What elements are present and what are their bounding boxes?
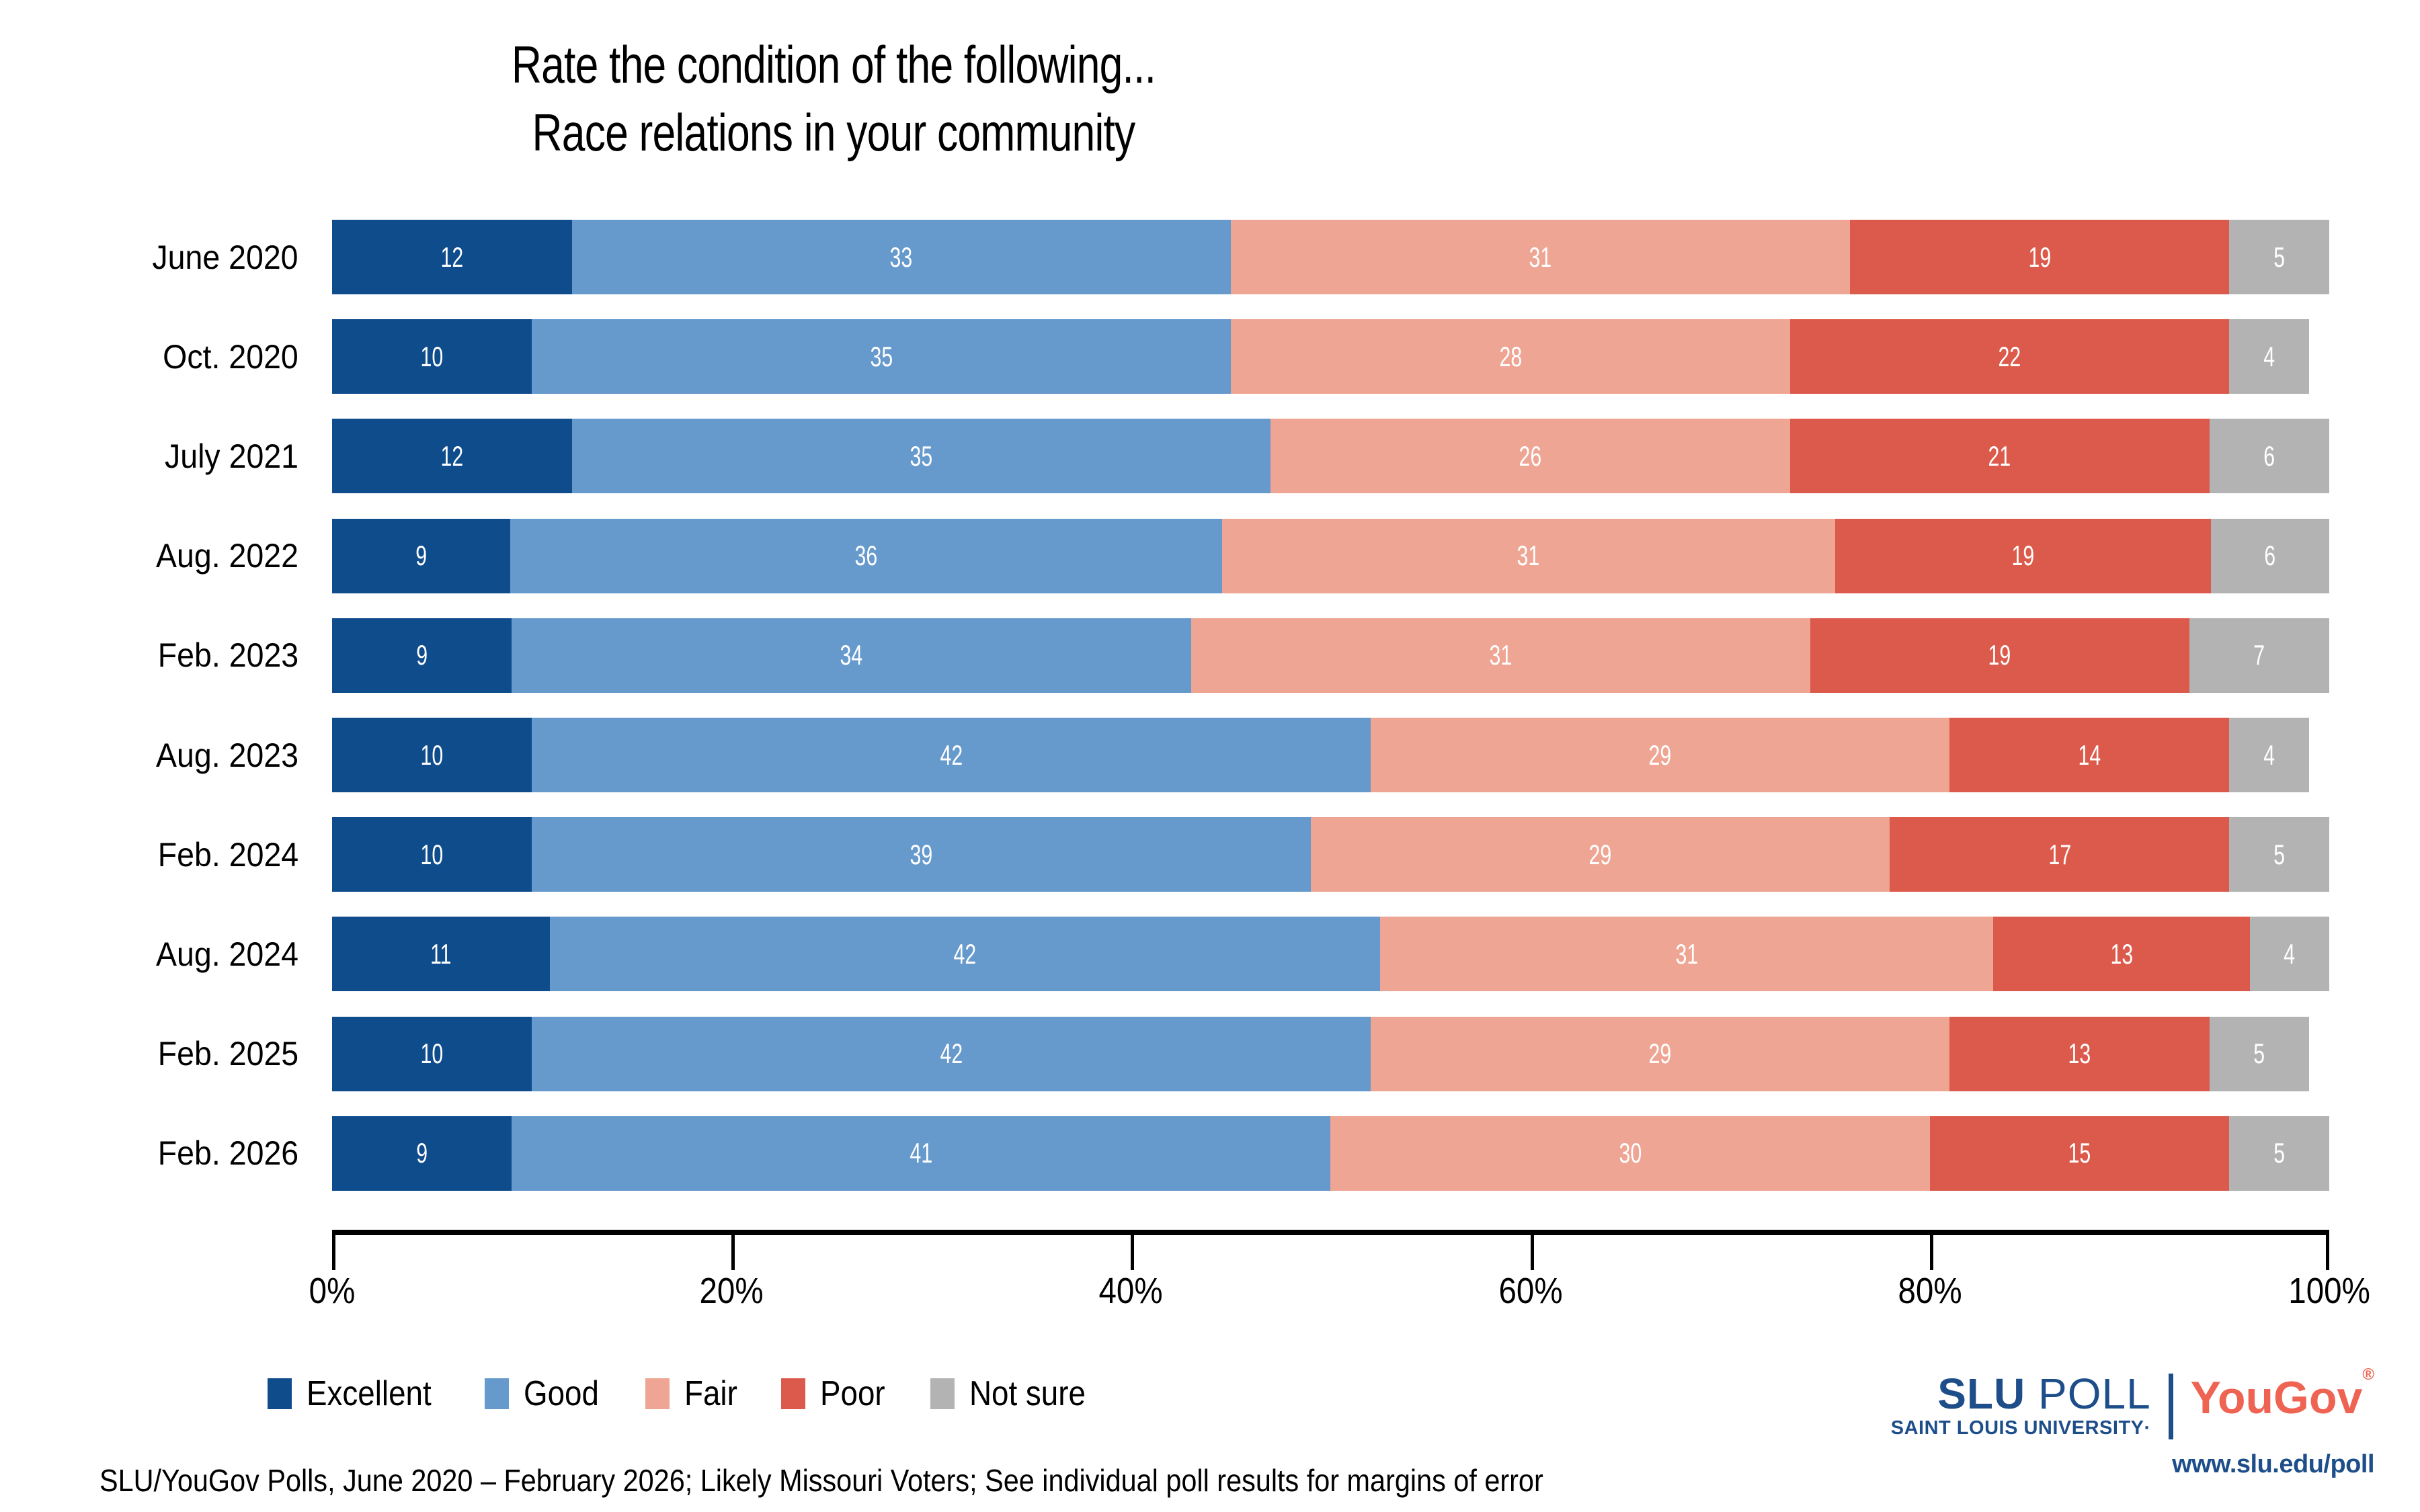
legend-item-poor[interactable]: Poor bbox=[781, 1374, 894, 1414]
y-axis-label-6: Feb. 2024 bbox=[0, 817, 298, 892]
bar-segment-good[interactable]: 33 bbox=[572, 220, 1231, 294]
bar-segment-good[interactable]: 42 bbox=[532, 1017, 1371, 1091]
bar-segment-good[interactable]: 42 bbox=[550, 917, 1380, 991]
bar-row: 114231134 bbox=[332, 917, 2329, 991]
bar-value-label: 33 bbox=[890, 243, 913, 271]
bar-segment-not-sure[interactable]: 5 bbox=[2229, 817, 2329, 892]
bar-segment-poor[interactable]: 19 bbox=[1850, 220, 2229, 294]
bar-value-label: 6 bbox=[2263, 442, 2275, 470]
x-axis-tick-label-text: 60% bbox=[1498, 1270, 1562, 1312]
bar-value-label: 10 bbox=[421, 841, 444, 869]
registered-trademark-icon: ® bbox=[2362, 1366, 2374, 1384]
bar-value-label: 35 bbox=[910, 442, 933, 470]
y-axis-label-text: Oct. 2020 bbox=[163, 337, 298, 376]
bar-row: 123331195 bbox=[332, 220, 2329, 294]
bar-row: 93631196 bbox=[332, 519, 2329, 593]
bar-row: 103929175 bbox=[332, 817, 2329, 892]
bar-segment-poor[interactable]: 13 bbox=[1993, 917, 2250, 991]
y-axis-label-text: Feb. 2025 bbox=[158, 1034, 298, 1073]
bar-row: 103528224 bbox=[332, 319, 2329, 394]
bar-segment-excellent[interactable]: 9 bbox=[332, 618, 512, 693]
bar-value-label: 9 bbox=[415, 542, 427, 570]
bar-value-label: 41 bbox=[910, 1139, 933, 1167]
bar-segment-fair[interactable]: 28 bbox=[1231, 319, 1790, 394]
y-axis-label-7: Aug. 2024 bbox=[0, 917, 298, 991]
bar-segment-good[interactable]: 35 bbox=[572, 419, 1271, 493]
y-axis-label-text: Aug. 2022 bbox=[156, 536, 298, 575]
bar-segment-poor[interactable]: 17 bbox=[1890, 817, 2229, 892]
logo-divider bbox=[2169, 1374, 2173, 1439]
bar-segment-fair[interactable]: 31 bbox=[1231, 220, 1850, 294]
x-axis-tick-label-text: 40% bbox=[1099, 1270, 1163, 1312]
slu-poll-wordmark: SLU POLL SAINT LOUIS UNIVERSITY· bbox=[1891, 1372, 2151, 1438]
bar-segment-good[interactable]: 39 bbox=[532, 817, 1311, 892]
chart-plot-area: 1233311951035282241235262169363119693431… bbox=[332, 202, 2329, 1203]
logo-top-row: SLU POLL SAINT LOUIS UNIVERSITY· YouGov® bbox=[1837, 1372, 2374, 1439]
bar-value-label: 42 bbox=[953, 940, 976, 968]
x-axis-tick-0 bbox=[332, 1235, 335, 1270]
bar-segment-not-sure[interactable]: 4 bbox=[2250, 917, 2329, 991]
bar-segment-fair[interactable]: 29 bbox=[1371, 718, 1950, 792]
bar-segment-poor[interactable]: 19 bbox=[1835, 519, 2211, 593]
x-axis-tick-label-text: 20% bbox=[700, 1270, 764, 1312]
bar-value-label: 6 bbox=[2264, 542, 2275, 570]
bar-segment-excellent[interactable]: 12 bbox=[332, 220, 572, 294]
bar-segment-fair[interactable]: 31 bbox=[1380, 917, 1993, 991]
bar-value-label: 10 bbox=[421, 1040, 444, 1068]
bar-value-label: 19 bbox=[2011, 542, 2034, 570]
bar-segment-poor[interactable]: 13 bbox=[1949, 1017, 2209, 1091]
legend-label-text: Good bbox=[524, 1374, 599, 1414]
x-axis-tick-2 bbox=[1131, 1235, 1134, 1270]
bar-segment-poor[interactable]: 22 bbox=[1790, 319, 2230, 394]
bar-segment-excellent[interactable]: 12 bbox=[332, 419, 572, 493]
bar-value-label: 9 bbox=[416, 1139, 428, 1167]
bar-value-label: 4 bbox=[2284, 940, 2296, 968]
bar-segment-good[interactable]: 35 bbox=[532, 319, 1231, 394]
x-axis-tick-label-text: 0% bbox=[309, 1270, 356, 1312]
bar-segment-poor[interactable]: 15 bbox=[1930, 1116, 2230, 1191]
bar-segment-fair[interactable]: 29 bbox=[1311, 817, 1890, 892]
yougov-wordmark: YouGov® bbox=[2191, 1375, 2374, 1421]
bar-segment-not-sure[interactable]: 6 bbox=[2210, 419, 2329, 493]
bar-value-label: 30 bbox=[1619, 1139, 1642, 1167]
bar-segment-fair[interactable]: 29 bbox=[1371, 1017, 1950, 1091]
bar-value-label: 5 bbox=[2273, 1139, 2285, 1167]
bar-value-label: 5 bbox=[2273, 243, 2285, 271]
bar-value-label: 29 bbox=[1649, 741, 1672, 769]
bar-value-label: 28 bbox=[1499, 343, 1522, 371]
bar-segment-excellent[interactable]: 9 bbox=[332, 519, 510, 593]
y-axis-label-3: Aug. 2022 bbox=[0, 519, 298, 593]
saint-louis-university-text: SAINT LOUIS UNIVERSITY· bbox=[1891, 1419, 2151, 1438]
y-axis-label-5: Aug. 2023 bbox=[0, 718, 298, 792]
x-axis-tick-label-0: 0% bbox=[231, 1270, 433, 1312]
y-axis-label-text: Feb. 2023 bbox=[158, 636, 298, 675]
bar-segment-not-sure[interactable]: 7 bbox=[2189, 618, 2329, 693]
bar-segment-excellent[interactable]: 10 bbox=[332, 817, 532, 892]
page-title: Rate the condition of the following... R… bbox=[167, 31, 1500, 167]
bar-value-label: 19 bbox=[1988, 641, 2011, 669]
bar-value-label: 31 bbox=[1489, 641, 1512, 669]
slu-poll-yougov-logo: SLU POLL SAINT LOUIS UNIVERSITY· YouGov®… bbox=[1837, 1372, 2374, 1486]
legend-label-text: Fair bbox=[684, 1374, 737, 1414]
bar-value-label: 34 bbox=[840, 641, 863, 669]
legend-item-good[interactable]: Good bbox=[485, 1374, 609, 1414]
bar-row: 123526216 bbox=[332, 419, 2329, 493]
y-axis-label-text: July 2021 bbox=[165, 437, 298, 476]
bar-value-label: 39 bbox=[910, 841, 933, 869]
bar-value-label: 13 bbox=[2068, 1040, 2091, 1068]
x-axis-tick-3 bbox=[1531, 1235, 1534, 1270]
x-axis-tick-label-text: 80% bbox=[1898, 1270, 1962, 1312]
y-axis-label-text: Aug. 2023 bbox=[156, 736, 298, 775]
yougov-text: YouGov bbox=[2191, 1372, 2363, 1423]
y-axis-label-text: Aug. 2024 bbox=[156, 935, 298, 974]
footnote-text: SLU/YouGov Polls, June 2020 – February 2… bbox=[99, 1462, 1543, 1499]
bar-value-label: 22 bbox=[1999, 343, 2021, 371]
bar-segment-fair[interactable]: 31 bbox=[1191, 618, 1810, 693]
bar-value-label: 36 bbox=[854, 542, 877, 570]
legend-item-fair[interactable]: Fair bbox=[645, 1374, 745, 1414]
bar-segment-poor[interactable]: 21 bbox=[1790, 419, 2210, 493]
bar-value-label: 11 bbox=[430, 940, 451, 968]
bar-segment-fair[interactable]: 26 bbox=[1270, 419, 1789, 493]
x-axis-tick-label-1: 20% bbox=[631, 1270, 832, 1312]
bar-segment-excellent[interactable]: 10 bbox=[332, 1017, 532, 1091]
legend-item-not-sure[interactable]: Not sure bbox=[930, 1374, 1102, 1414]
bar-row: 94130155 bbox=[332, 1116, 2329, 1191]
bar-row: 104229144 bbox=[332, 718, 2329, 792]
bar-value-label: 35 bbox=[870, 343, 893, 371]
bar-value-label: 9 bbox=[416, 641, 428, 669]
bar-value-label: 5 bbox=[2273, 841, 2285, 869]
bar-value-label: 42 bbox=[940, 741, 963, 769]
bar-segment-good[interactable]: 36 bbox=[510, 519, 1222, 593]
y-axis-label-text: June 2020 bbox=[153, 238, 298, 277]
bar-segment-good[interactable]: 42 bbox=[532, 718, 1371, 792]
bar-segment-not-sure[interactable]: 4 bbox=[2229, 718, 2309, 792]
bar-value-label: 31 bbox=[1529, 243, 1552, 271]
bar-segment-excellent[interactable]: 10 bbox=[332, 319, 532, 394]
bar-segment-not-sure[interactable]: 4 bbox=[2229, 319, 2309, 394]
bar-segment-good[interactable]: 34 bbox=[512, 618, 1191, 693]
bar-value-label: 7 bbox=[2254, 641, 2265, 669]
slu-bold: SLU bbox=[1937, 1370, 2025, 1418]
poll-light: POLL bbox=[2025, 1370, 2150, 1418]
x-axis-tick-label-4: 80% bbox=[1829, 1270, 2031, 1312]
bar-segment-not-sure[interactable]: 5 bbox=[2229, 1116, 2329, 1191]
y-axis-label-1: Oct. 2020 bbox=[0, 319, 298, 394]
bar-segment-excellent[interactable]: 11 bbox=[332, 917, 550, 991]
legend-swatch-icon bbox=[268, 1378, 292, 1409]
y-axis-label-0: June 2020 bbox=[0, 220, 298, 294]
y-axis-label-2: July 2021 bbox=[0, 419, 298, 493]
bar-value-label: 4 bbox=[2263, 343, 2275, 371]
bar-value-label: 17 bbox=[2048, 841, 2071, 869]
bar-value-label: 12 bbox=[440, 243, 463, 271]
legend-swatch-icon bbox=[781, 1378, 805, 1409]
bar-value-label: 31 bbox=[1517, 542, 1540, 570]
bar-value-label: 15 bbox=[2068, 1139, 2091, 1167]
legend-label-text: Poor bbox=[820, 1374, 885, 1414]
bar-segment-fair[interactable]: 31 bbox=[1222, 519, 1835, 593]
bar-segment-poor[interactable]: 19 bbox=[1810, 618, 2189, 693]
bar-value-label: 14 bbox=[2079, 741, 2101, 769]
y-axis-label-8: Feb. 2025 bbox=[0, 1017, 298, 1091]
x-axis-tick-1 bbox=[731, 1235, 735, 1270]
bar-row: 104229135 bbox=[332, 1017, 2329, 1091]
bar-value-label: 12 bbox=[440, 442, 463, 470]
x-axis-tick-label-2: 40% bbox=[1030, 1270, 1232, 1312]
bar-value-label: 13 bbox=[2110, 940, 2133, 968]
bar-value-label: 19 bbox=[2028, 243, 2051, 271]
bar-segment-not-sure[interactable]: 5 bbox=[2210, 1017, 2310, 1091]
bar-segment-fair[interactable]: 30 bbox=[1330, 1116, 1929, 1191]
bar-value-label: 4 bbox=[2263, 741, 2275, 769]
bar-value-label: 29 bbox=[1589, 841, 1612, 869]
chart-legend: ExcellentGoodFairPoorNot sure bbox=[268, 1370, 1137, 1418]
bar-value-label: 5 bbox=[2254, 1040, 2265, 1068]
bar-segment-excellent[interactable]: 9 bbox=[332, 1116, 512, 1191]
y-axis-label-4: Feb. 2023 bbox=[0, 618, 298, 693]
legend-swatch-icon bbox=[930, 1378, 955, 1409]
y-axis-label-text: Feb. 2026 bbox=[158, 1134, 298, 1173]
bar-value-label: 31 bbox=[1675, 940, 1698, 968]
x-axis-tick-label-5: 100% bbox=[2228, 1270, 2420, 1312]
title-line-1: Rate the condition of the following... bbox=[167, 31, 1500, 99]
bar-value-label: 29 bbox=[1649, 1040, 1672, 1068]
bar-segment-good[interactable]: 41 bbox=[512, 1116, 1330, 1191]
x-axis-tick-4 bbox=[1930, 1235, 1933, 1270]
bar-segment-not-sure[interactable]: 6 bbox=[2211, 519, 2329, 593]
poll-url-link[interactable]: www.slu.edu/poll bbox=[1837, 1450, 2374, 1479]
bar-row: 93431197 bbox=[332, 618, 2329, 693]
legend-item-excellent[interactable]: Excellent bbox=[268, 1374, 448, 1414]
slu-poll-text: SLU POLL bbox=[1891, 1372, 2151, 1415]
legend-label-text: Not sure bbox=[969, 1374, 1086, 1414]
bar-value-label: 26 bbox=[1519, 442, 1542, 470]
y-axis-label-text: Feb. 2024 bbox=[158, 835, 298, 874]
title-line-2: Race relations in your community bbox=[167, 99, 1500, 167]
bar-segment-poor[interactable]: 14 bbox=[1949, 718, 2229, 792]
x-axis-tick-5 bbox=[2326, 1235, 2329, 1270]
bar-value-label: 21 bbox=[1988, 442, 2011, 470]
bar-segment-not-sure[interactable]: 5 bbox=[2229, 220, 2329, 294]
x-axis-tick-label-3: 60% bbox=[1430, 1270, 1631, 1312]
legend-swatch-icon bbox=[485, 1378, 509, 1409]
x-axis-tick-label-text: 100% bbox=[2288, 1270, 2370, 1312]
bar-value-label: 10 bbox=[421, 343, 444, 371]
legend-label-text: Excellent bbox=[307, 1374, 432, 1414]
y-axis-label-9: Feb. 2026 bbox=[0, 1116, 298, 1191]
legend-swatch-icon bbox=[645, 1378, 670, 1409]
bar-segment-excellent[interactable]: 10 bbox=[332, 718, 532, 792]
bar-value-label: 10 bbox=[421, 741, 444, 769]
x-axis-line bbox=[332, 1230, 2329, 1235]
bar-value-label: 42 bbox=[940, 1040, 963, 1068]
